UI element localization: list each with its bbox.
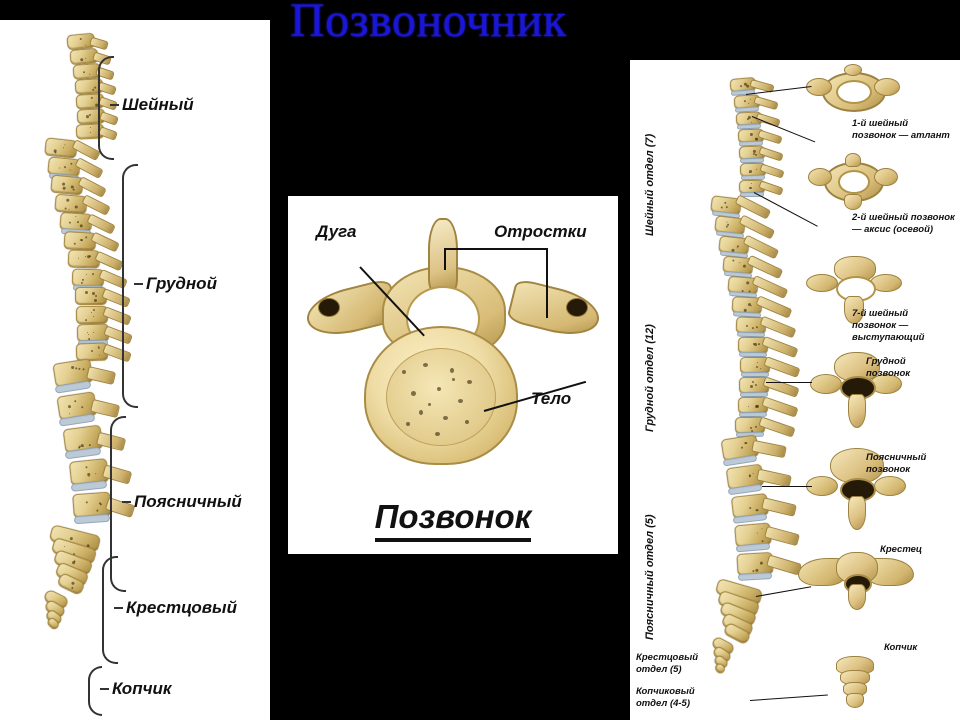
tick-lumbar: [122, 501, 131, 503]
vertebra-caption-text: Позвонок: [375, 498, 532, 542]
tick-sacral: [114, 607, 123, 609]
bone-atlas: [808, 66, 898, 114]
foramen-left: [318, 298, 340, 317]
tick-coccyx: [100, 688, 109, 690]
spinous-process: [428, 218, 458, 292]
leader-processes-top: [444, 248, 548, 250]
transverse-process-right: [506, 278, 604, 342]
brace-cervical: [98, 56, 114, 160]
bone-axis: [808, 156, 898, 210]
label-arch: Дуга: [316, 222, 356, 242]
spine-sections-panel: Шейный отдел (7) Грудной отдел (12) Пояс…: [630, 60, 960, 720]
section-label-thoracic: Грудной отдел (12): [644, 324, 656, 432]
callout-axis: 2-й шейный позвонок — аксис (осевой): [852, 212, 956, 236]
bone-coccyx: [826, 656, 882, 712]
spongy-bone-texture: [386, 348, 496, 446]
leader-lumbar: [762, 486, 812, 487]
callout-lumbar: Поясничный позвонок: [866, 452, 950, 476]
vertebra-panel: Дуга Отростки Тело Позвонок: [288, 196, 618, 554]
label-thoracic: Грудной: [146, 274, 217, 294]
leader-processes-stem: [444, 248, 446, 270]
label-cervical: Шейный: [122, 95, 194, 115]
brace-coccyx: [88, 666, 102, 716]
label-body: Тело: [531, 389, 571, 409]
page-title: Позвоночник: [290, 0, 710, 46]
label-coccyx: Копчик: [112, 679, 171, 699]
foramen-right: [566, 298, 588, 317]
tick-cervical: [110, 104, 119, 106]
label-lumbar: Поясничный: [134, 492, 242, 512]
brace-thoracic: [122, 164, 138, 408]
slide-canvas: Позвоночник Шейный Грудной Поясничный Кр…: [0, 0, 960, 720]
label-sacral: Крестцовый: [126, 598, 237, 618]
leader-thoracic: [766, 382, 812, 383]
vertebra-caption: Позвонок: [288, 498, 618, 536]
callout-thoracic: Грудной позвонок: [866, 356, 944, 380]
section-label-cervical: Шейный отдел (7): [644, 134, 656, 236]
callout-c7: 7-й шейный позвонок — выступающий: [852, 308, 952, 344]
lateral-spine-panel: Шейный Грудной Поясничный Крестцовый Коп…: [0, 20, 270, 720]
section-label-sacral: Крестцовый отдел (5): [636, 652, 720, 676]
section-label-lumbar: Поясничный отдел (5): [644, 514, 656, 640]
tick-thoracic: [134, 283, 143, 285]
callout-sacrum: Крестец: [880, 544, 950, 556]
bone-sacrum: [798, 550, 914, 610]
callout-atlas: 1-й шейный позвонок — атлант: [852, 118, 952, 142]
section-label-coccygeal: Копчиковый отдел (4-5): [636, 686, 720, 710]
leader-processes-drop: [546, 248, 548, 318]
brace-sacral: [102, 556, 118, 664]
vertebra-illustration: [308, 214, 598, 484]
callout-coccyx: Копчик: [884, 642, 950, 654]
label-processes: Отростки: [494, 222, 587, 242]
